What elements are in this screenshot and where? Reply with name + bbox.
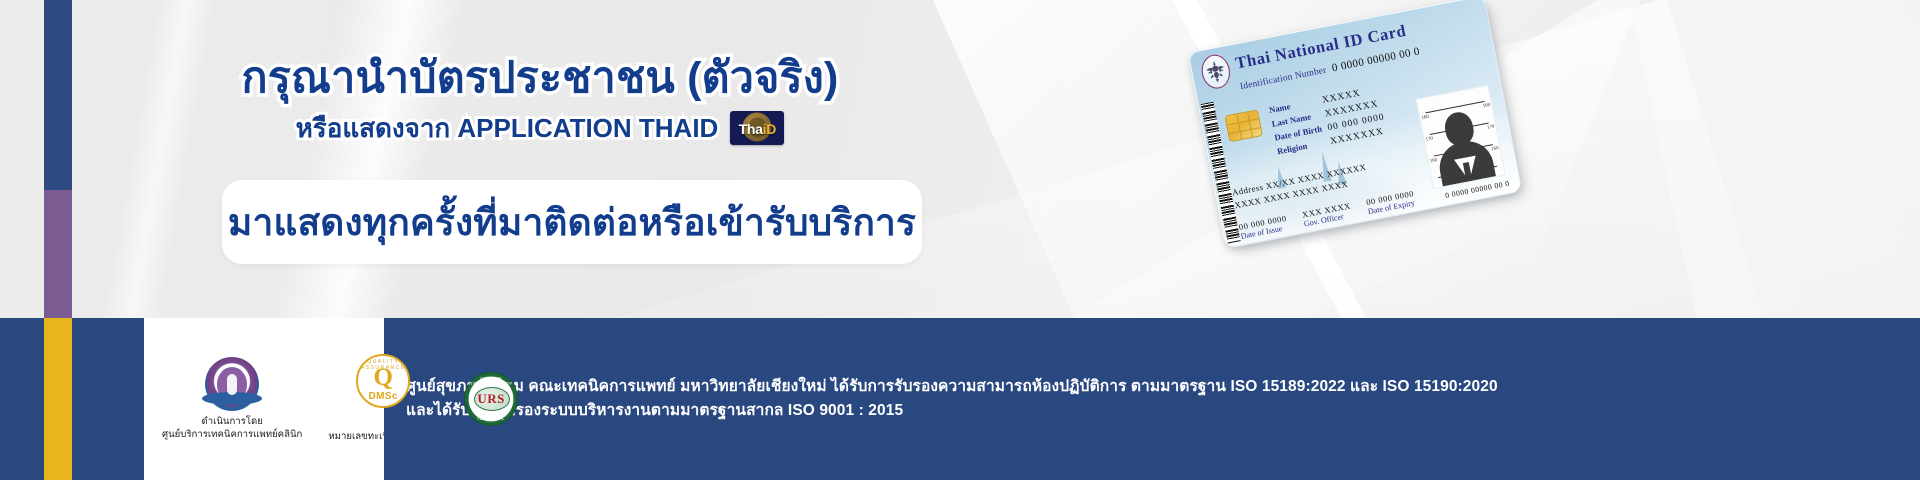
footer-stripe-gold — [44, 318, 72, 480]
urs-iso9001-seal-icon: UNITED REGISTRAR OF SYSTEMS URS ISO 9001 — [464, 372, 518, 426]
logo-cmu-amtec: ดำเนินการโดย ศูนย์บริการเทคนิคการแพทย์คล… — [162, 357, 302, 442]
urs-bottom-text: ISO 9001 — [465, 416, 517, 422]
thaid-logo-text-white: Tha — [739, 121, 763, 137]
headline-secondary: หรือแสดงจาก APPLICATION THAID — [296, 113, 719, 144]
photo-tick-label: 180 — [1482, 103, 1490, 109]
banner-background — [0, 0, 1920, 318]
footer-logos: ดำเนินการโดย ศูนย์บริการเทคนิคการแพทย์คล… — [144, 318, 384, 480]
logo-caption-line1: ดำเนินการโดย — [201, 416, 262, 427]
footer-text-block: ศูนย์สุขภาพพร้อม คณะเทคนิคการแพทย์ มหาวิ… — [406, 375, 1498, 423]
footer-accreditation-panel: ศูนย์สุขภาพพร้อม คณะเทคนิคการแพทย์ มหาวิ… — [384, 318, 1920, 480]
footer-rail-navy-left — [0, 318, 44, 480]
photo-tick-label: 180 — [1421, 115, 1429, 121]
footer-bar: ดำเนินการโดย ศูนย์บริการเทคนิคการแพทย์คล… — [0, 318, 1920, 480]
logo-urs: UNITED REGISTRAR OF SYSTEMS URS ISO 9001 — [464, 372, 518, 426]
thaid-app-icon[interactable]: ThaiD — [730, 111, 784, 145]
callout-pill: มาแสดงทุกครั้งที่มาติดต่อหรือเข้ารับบริก… — [222, 180, 922, 264]
logo-caption-line2: ศูนย์บริการเทคนิคการแพทย์คลินิก — [162, 429, 302, 440]
dmsc-q-glyph: Q — [358, 365, 408, 390]
photo-tick-label: 170 — [1487, 125, 1495, 131]
urs-glyph: URS — [465, 392, 517, 405]
footer-text-line2: และได้รับการรับรองระบบบริหารงานตามมาตรฐา… — [406, 399, 1498, 423]
footer-rail-navy-right — [72, 318, 144, 480]
photo-tick-label: 170 — [1425, 136, 1433, 142]
id-card: Thai National ID Card Identification Num… — [1188, 0, 1523, 249]
photo-tick-label: 160 — [1491, 146, 1499, 152]
photo-silhouette-icon — [1430, 107, 1496, 186]
headline-primary: กรุณานำบัตรประชาชน (ตัวจริง) — [0, 54, 1080, 102]
callout-text: มาแสดงทุกครั้งที่มาติดต่อหรือเข้ารับบริก… — [228, 204, 916, 241]
headline-secondary-row: หรือแสดงจาก APPLICATION THAID ThaiD — [0, 111, 1080, 145]
headline-block: กรุณานำบัตรประชาชน (ตัวจริง) หรือแสดงจาก… — [0, 54, 1080, 145]
garuda-seal-icon — [1199, 52, 1233, 91]
dmsc-bottom-text: DMSc — [358, 391, 408, 402]
id-card-illustration: Thai National ID Card Identification Num… — [1190, 14, 1610, 304]
accent-bar-purple — [44, 190, 72, 318]
promo-banner: กรุณานำบัตรประชาชน (ตัวจริง) หรือแสดงจาก… — [0, 0, 1920, 480]
card-chip-icon — [1224, 109, 1263, 142]
thaid-logo-text: ThaiD — [730, 122, 784, 136]
dmsc-quality-seal-icon: QUALITY ASSURANCE Q DMSc — [356, 354, 410, 408]
logo-caption: ดำเนินการโดย ศูนย์บริการเทคนิคการแพทย์คล… — [162, 415, 302, 442]
footer-text-line1: ศูนย์สุขภาพพร้อม คณะเทคนิคการแพทย์ มหาวิ… — [406, 375, 1498, 399]
cmu-amtec-seal-icon — [205, 357, 259, 411]
thaid-logo-text-gold: iD — [763, 121, 776, 137]
